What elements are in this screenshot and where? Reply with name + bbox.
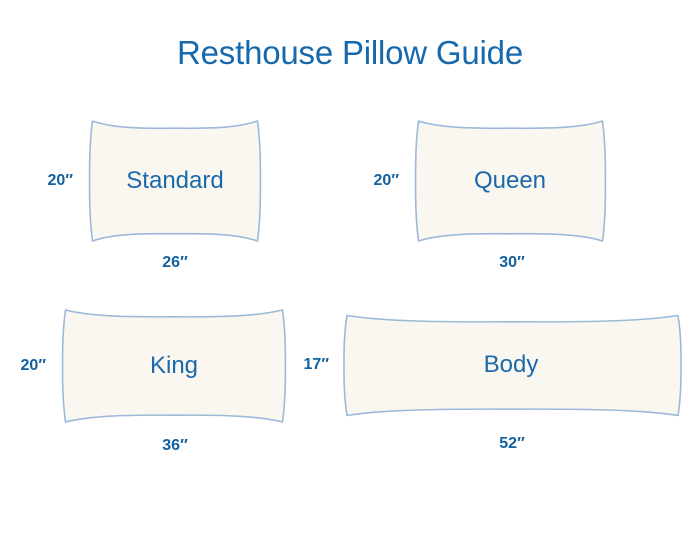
page-title: Resthouse Pillow Guide [0,34,700,72]
pillow-name-body: Body [484,351,539,379]
pillow-height-label-king: 20″ [21,357,46,375]
pillow-name-standard: Standard [126,167,223,195]
pillow-height-label-body: 17″ [304,356,329,374]
pillow-width-label-queen: 30″ [499,254,524,272]
pillow-height-label-queen: 20″ [374,172,399,190]
pillow-name-queen: Queen [474,167,546,195]
pillow-width-label-king: 36″ [162,437,187,455]
pillow-height-label-standard: 20″ [48,172,73,190]
pillow-card-queen: Queen 20″ 30″ [411,116,610,246]
pillow-card-king: King 20″ 36″ [58,305,290,427]
pillow-width-label-standard: 26″ [162,254,187,272]
pillow-name-king: King [150,352,198,380]
pillow-card-standard: Standard 20″ 26″ [85,116,265,246]
pillow-width-label-body: 52″ [499,435,524,453]
pillow-card-body: Body 17″ 52″ [340,311,685,420]
